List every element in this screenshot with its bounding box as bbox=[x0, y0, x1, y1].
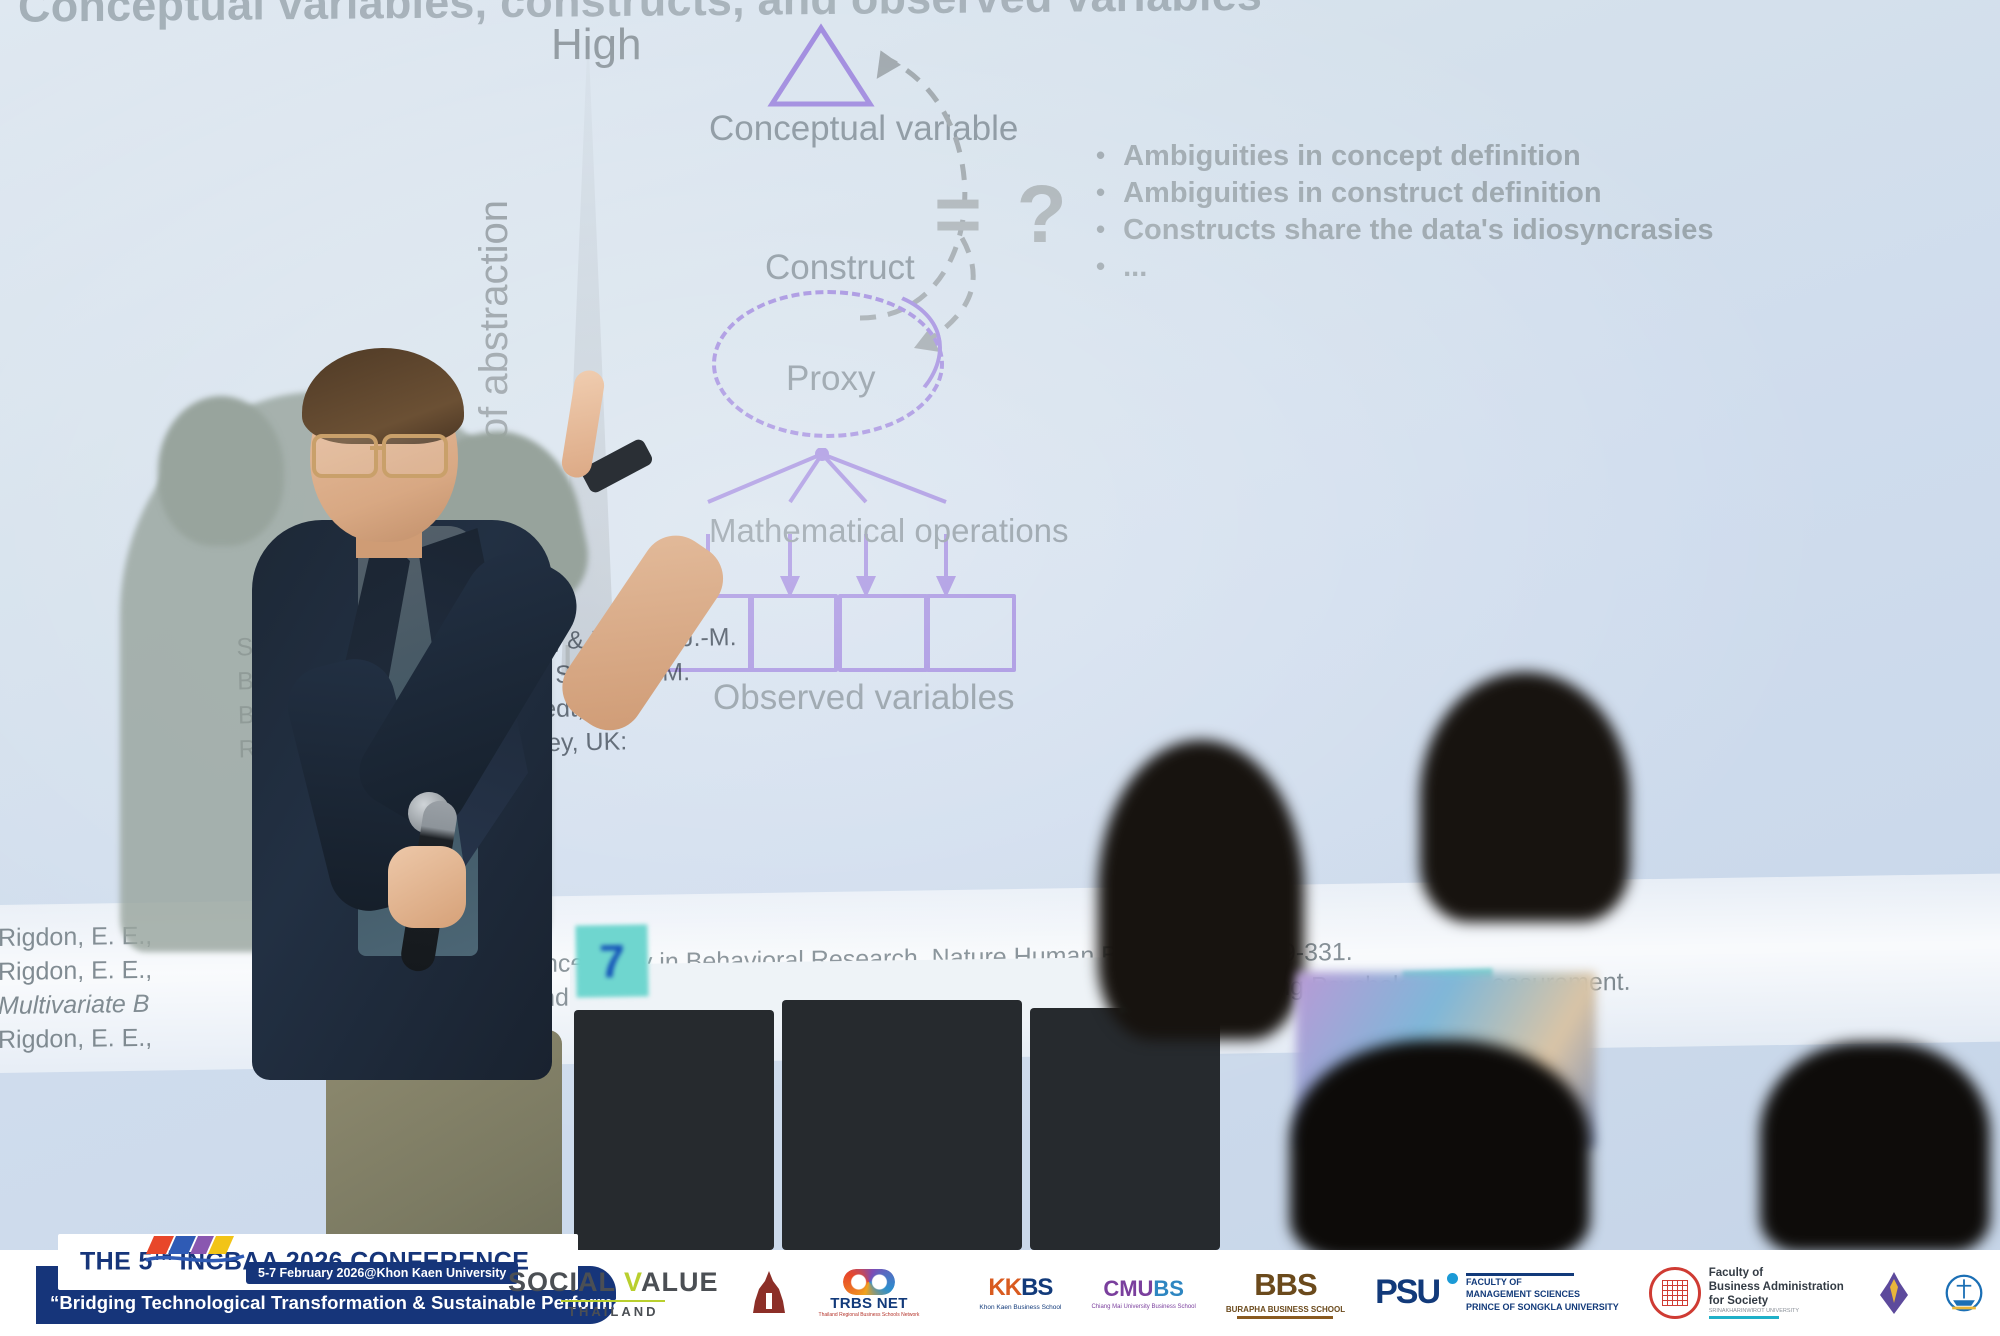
construct-label: Construct bbox=[765, 248, 915, 288]
audience-head bbox=[1290, 1040, 1590, 1260]
bullet-dot-icon: • bbox=[1096, 212, 1105, 249]
audience-head bbox=[1420, 672, 1630, 922]
monitor bbox=[574, 1010, 774, 1250]
swu-seal-icon bbox=[1649, 1267, 1701, 1319]
bullet-item: •Ambiguities in construct definition bbox=[1096, 175, 2000, 212]
thai-temple-seal-icon bbox=[749, 1269, 789, 1317]
sticky-note: 7 bbox=[575, 924, 648, 997]
logo-thai-university-seal-1 bbox=[1874, 1269, 1914, 1317]
conference-banner: THE 5TH INCBAA 2026 CONFERENCE 5-7 Febru… bbox=[0, 1250, 2000, 1336]
logo-khon-kaen-university-seal bbox=[749, 1269, 789, 1317]
logo-cmu-business-school: CMUBS Chiang Mai University Business Sch… bbox=[1091, 1276, 1195, 1310]
bullet-dot-icon: • bbox=[1096, 249, 1105, 286]
bullet-item: •Ambiguities in concept definition bbox=[1096, 138, 2000, 175]
observed-variables-label: Observed variables bbox=[713, 678, 1015, 718]
logo-social-value-thailand: SOCIAL VALUE THAILAND bbox=[508, 1267, 719, 1319]
audience-head bbox=[1760, 1042, 1990, 1252]
screenshot-root: Conceptual variables, constructs, and ob… bbox=[0, 0, 2000, 1336]
bullet-item: •... bbox=[1096, 249, 2000, 286]
bullet-item: •Constructs share the data's idiosyncras… bbox=[1096, 212, 2000, 249]
logo-burapha-business-school: BBS BURAPHA BUSINESS SCHOOL bbox=[1226, 1267, 1345, 1319]
psu-rule bbox=[1466, 1273, 1574, 1276]
bullet-dot-icon: • bbox=[1096, 138, 1105, 175]
eyeglasses-right-lens-icon bbox=[382, 434, 448, 478]
logo-faculty-business-administration-for-society: Faculty of Business Administration for S… bbox=[1649, 1267, 1844, 1319]
social-value-underline bbox=[561, 1300, 665, 1302]
logo-psu-faculty-of-management-sciences: PSU FACULTY OF MANAGEMENT SCIENCES PRINC… bbox=[1375, 1273, 1619, 1313]
observed-variable-box bbox=[926, 594, 1016, 672]
eyeglasses-bridge-icon bbox=[370, 446, 386, 450]
bbs-underline bbox=[1237, 1316, 1333, 1319]
swu-underline bbox=[1709, 1316, 1779, 1319]
thai-crest-icon bbox=[1874, 1269, 1914, 1317]
equals-question-glyph: = ? bbox=[934, 168, 1073, 262]
axis-high-label: High bbox=[551, 20, 642, 70]
reference-line: Rigdon, E. E., bbox=[0, 1024, 152, 1055]
incbaa-wave-logo-icon bbox=[144, 1230, 248, 1270]
presenter-hand-holding-microphone bbox=[388, 846, 466, 928]
observed-variable-box bbox=[748, 594, 838, 672]
audience-head bbox=[1098, 740, 1304, 1040]
slide-title: Conceptual variables, constructs, and ob… bbox=[18, 0, 1418, 33]
proxy-label: Proxy bbox=[786, 359, 875, 399]
logo-kkbs: KKBS Khon Kaen Business School bbox=[979, 1274, 1061, 1312]
eyeglasses-left-lens-icon bbox=[312, 434, 378, 478]
conference-date-venue: 5-7 February 2026@Khon Kaen University bbox=[246, 1262, 518, 1284]
ship-crest-icon bbox=[1944, 1269, 1984, 1317]
logo-thai-university-seal-2 bbox=[1944, 1269, 1984, 1317]
presenter-hair bbox=[302, 348, 464, 444]
psu-dot-icon bbox=[1447, 1273, 1458, 1284]
mathematical-operations-label: Mathematical operations bbox=[709, 512, 1069, 550]
observed-variable-box bbox=[838, 594, 928, 672]
monitor bbox=[782, 1000, 1022, 1250]
presenter-forearm bbox=[549, 522, 736, 743]
trbs-infinity-icon bbox=[843, 1269, 895, 1295]
slide-bullet-list: •Ambiguities in concept definition •Ambi… bbox=[1096, 138, 2000, 286]
logo-trbs-net: TRBS NET Thailand Regional Business Scho… bbox=[819, 1269, 920, 1318]
bullet-dot-icon: • bbox=[1096, 175, 1105, 212]
sponsor-logo-row: SOCIAL VALUE THAILAND TRBS NET Thailand … bbox=[500, 1250, 2000, 1336]
monitor bbox=[1030, 1008, 1220, 1250]
